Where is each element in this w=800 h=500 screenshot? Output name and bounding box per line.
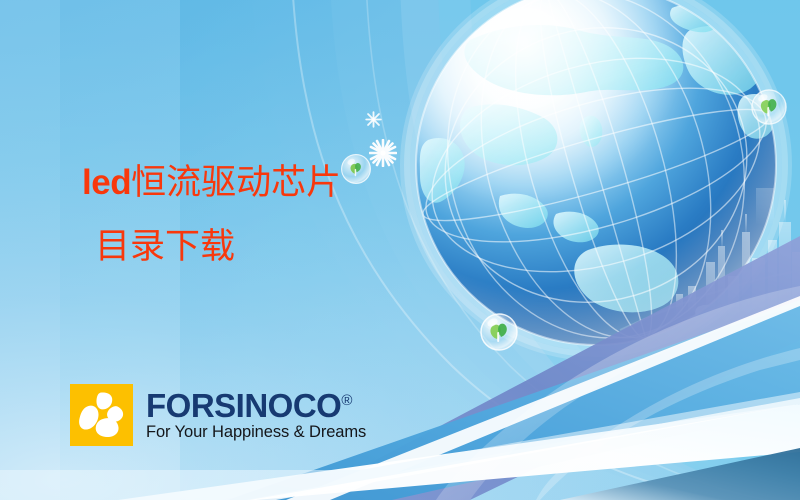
poster-canvas: led恒流驱动芯片 目录下载 FORSINOCO® For Your Happ bbox=[0, 0, 800, 500]
title-cjk-product: 恒流驱动芯片 bbox=[131, 163, 341, 202]
poster-title: led恒流驱动芯片 目录下载 bbox=[82, 160, 422, 270]
logo-wordmark: FORSINOCO® For Your Happiness & Dreams bbox=[146, 389, 366, 442]
title-line-2: 目录下载 bbox=[95, 224, 422, 270]
logo-tagline: For Your Happiness & Dreams bbox=[146, 423, 366, 442]
title-line-1: led恒流驱动芯片 bbox=[82, 160, 422, 206]
registered-trademark-icon: ® bbox=[341, 392, 352, 409]
four-petal-flower-icon bbox=[70, 384, 133, 446]
logo-brand-name: FORSINOCO® bbox=[146, 389, 366, 422]
company-logo: FORSINOCO® For Your Happiness & Dreams bbox=[70, 384, 366, 446]
logo-brand-text: FORSINOCO bbox=[146, 387, 341, 424]
logo-mark-tile bbox=[70, 384, 133, 446]
title-latin-led: led bbox=[82, 163, 131, 202]
